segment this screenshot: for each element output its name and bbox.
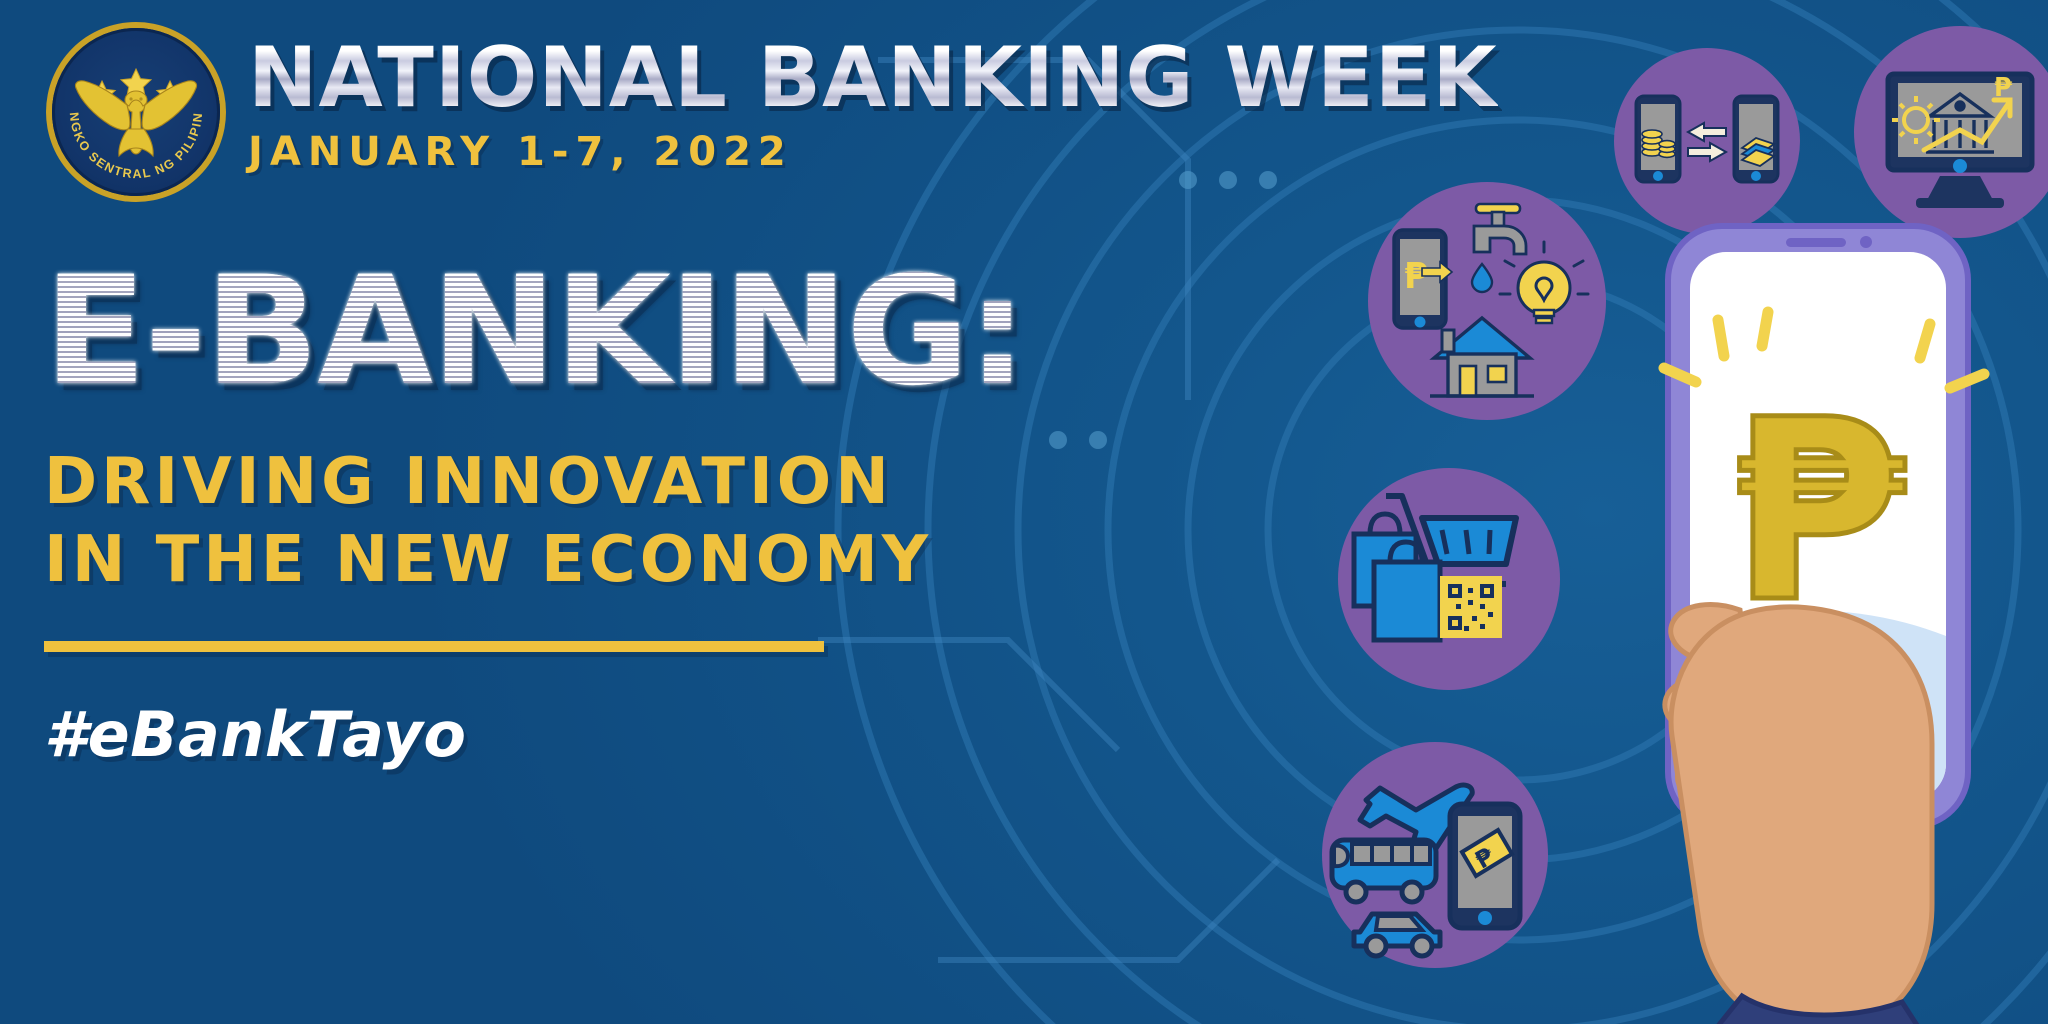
hand-holding-phone: ₱ (1590, 206, 2048, 1024)
header-block: NATIONAL BANKING WEEK JANUARY 1-7, 2022 (248, 36, 1498, 175)
faucet-icon (1474, 204, 1526, 254)
bus-icon (1332, 840, 1436, 902)
qr-code-icon (1442, 578, 1500, 636)
seal-eagle-icon (70, 67, 202, 163)
water-drop-icon (1472, 264, 1492, 292)
hand-icon (1665, 605, 1932, 1024)
phone-peso-send-icon: ₱ (1394, 230, 1452, 328)
subtitle-line-1: DRIVING INNOVATION (44, 443, 1025, 521)
phone-with-cash-icon (1734, 96, 1778, 182)
gold-divider (44, 641, 824, 652)
banner: BANGKO SENTRAL NG PILIPINAS (0, 0, 2048, 1024)
main-text-block: E-BANKING: DRIVING INNOVATION IN THE NEW… (44, 256, 1025, 771)
campaign-hashtag: #eBankTayo (44, 698, 1025, 771)
phone-with-coins-icon (1636, 96, 1680, 182)
car-icon (1354, 914, 1440, 956)
page-title: NATIONAL BANKING WEEK (248, 36, 1498, 119)
phone-peso-ticket-icon: ₱ (1450, 804, 1520, 928)
subtitle-line-2: IN THE NEW ECONOMY (44, 521, 1025, 599)
bsp-seal: BANGKO SENTRAL NG PILIPINAS (52, 28, 220, 196)
icon-circle-travel-booking: ₱ (1322, 742, 1548, 968)
icon-circle-online-shopping (1338, 468, 1560, 690)
event-date: JANUARY 1-7, 2022 (248, 129, 1498, 175)
exchange-arrows-icon (1688, 123, 1726, 161)
icon-circle-bills-payment: ₱ (1368, 182, 1606, 420)
peso-glyph: ₱ (1994, 73, 2013, 103)
house-icon (1430, 318, 1534, 396)
headline: E-BANKING: (44, 256, 1025, 409)
